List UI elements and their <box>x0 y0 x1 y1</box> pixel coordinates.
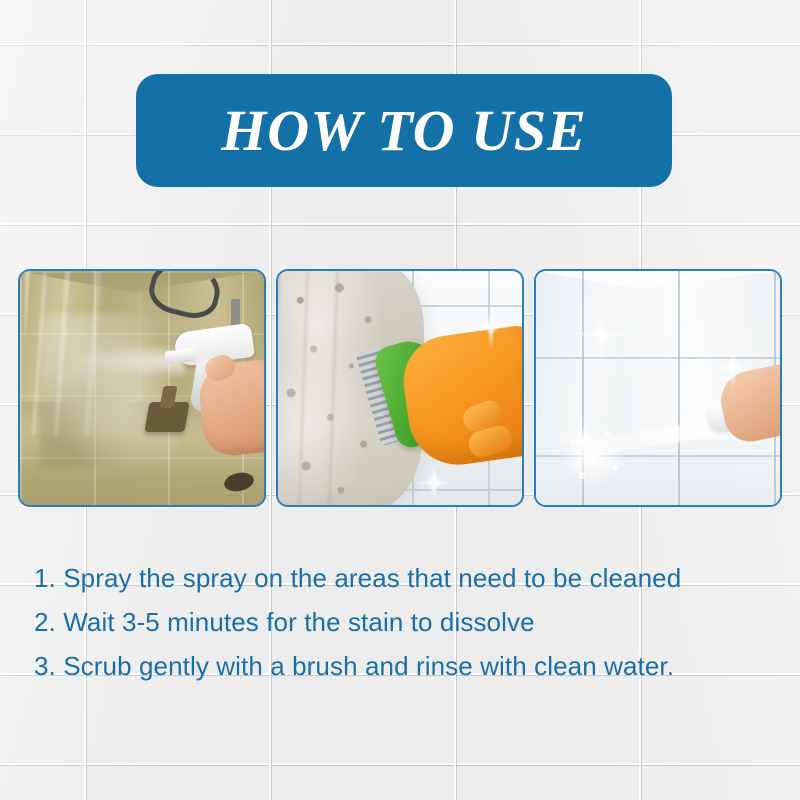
page-title: HOW TO USE <box>221 102 587 160</box>
instruction-step-3: 3. Scrub gently with a brush and rinse w… <box>34 644 774 688</box>
how-to-use-infographic: HOW TO USE <box>0 0 800 800</box>
instruction-list: 1. Spray the spray on the areas that nee… <box>34 556 774 688</box>
photo-brush-scrub <box>278 271 522 505</box>
spray-bottle-icon <box>171 322 264 442</box>
panel-step-3-rinse <box>534 269 782 507</box>
panel-step-1-spray <box>18 269 266 507</box>
title-banner: HOW TO USE <box>136 74 672 187</box>
soap-scum <box>40 313 182 467</box>
panel-row <box>18 269 782 507</box>
instruction-step-2: 2. Wait 3-5 minutes for the stain to dis… <box>34 600 774 644</box>
instruction-step-1: 1. Spray the spray on the areas that nee… <box>34 556 774 600</box>
photo-dirty-floor-spray <box>20 271 264 505</box>
panel-step-2-scrub <box>276 269 524 507</box>
water-splash <box>558 421 628 491</box>
photo-clean-tiles-rinse <box>536 271 780 505</box>
